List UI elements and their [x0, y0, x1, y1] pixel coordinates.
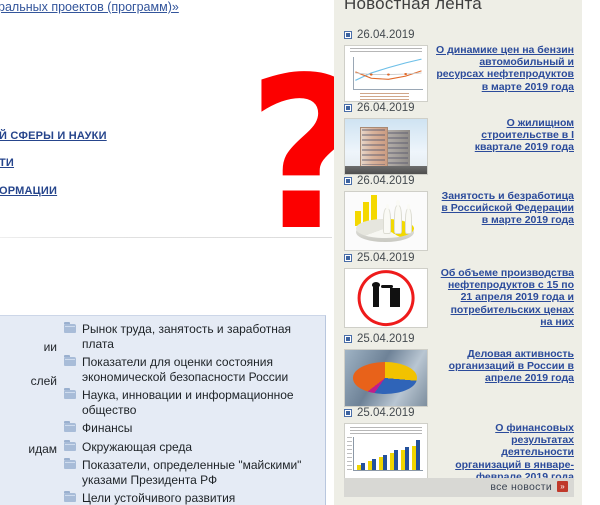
- rubric-item-finance[interactable]: Финансы: [64, 421, 322, 436]
- news-item: 26.04.2019: [342, 30, 574, 105]
- news-item: 25.04.2019 Деловая активность организаци…: [342, 334, 574, 411]
- news-item: 25.04.2019: [342, 408, 574, 483]
- clipped-label-3: идам: [28, 442, 57, 456]
- calendar-icon: [344, 31, 352, 39]
- news-thumbnail-fuel-sign[interactable]: [344, 268, 428, 328]
- news-thumbnail-financial-results[interactable]: [344, 423, 428, 481]
- all-news-link[interactable]: все новости: [490, 481, 552, 493]
- calendar-icon: [344, 409, 352, 417]
- folder-icon: [64, 357, 76, 366]
- news-date: 25.04.2019: [357, 252, 415, 264]
- breadcrumb-link[interactable]: ральных проектов (программ)»: [0, 0, 179, 14]
- news-thumbnail-line-chart[interactable]: [344, 45, 428, 102]
- page-right-gutter: [582, 0, 600, 505]
- news-date: 25.04.2019: [357, 407, 415, 419]
- news-feed-title: Новостная лента: [344, 0, 482, 14]
- news-date: 26.04.2019: [357, 175, 415, 187]
- news-item: 26.04.2019 Занятость: [342, 176, 574, 254]
- rubric-item-label: Показатели, определенные "майскими" указ…: [82, 458, 301, 487]
- news-item: 25.04.2019 Об объеме производства нефтеп…: [342, 253, 574, 332]
- folder-icon: [64, 493, 76, 502]
- news-link[interactable]: Занятость и безработица в Российской Фед…: [436, 190, 574, 227]
- news-thumbnail-building[interactable]: [344, 118, 428, 175]
- folder-icon: [64, 390, 76, 399]
- news-date: 26.04.2019: [357, 29, 415, 41]
- news-thumbnail-business-activity[interactable]: [344, 349, 428, 407]
- news-link[interactable]: О жилищном строительстве в I квартале 20…: [436, 117, 574, 154]
- section-link-authorities[interactable]: ТИ: [0, 157, 14, 169]
- folder-icon: [64, 324, 76, 333]
- section-link-social-sphere-science[interactable]: Й СФЕРЫ И НАУКИ: [0, 130, 107, 142]
- rubric-item-label: Цели устойчивого развития: [82, 491, 235, 505]
- main-content-column: ральных проектов (программ)» Й СФЕРЫ И Н…: [0, 0, 334, 505]
- rubricator-list: Рынок труда, занятость и заработная плат…: [64, 322, 322, 505]
- folder-icon: [64, 442, 76, 451]
- news-item: 26.04.2019 О жилищном строительстве в I …: [342, 103, 574, 178]
- rubric-item-label: Наука, инновации и информационное общест…: [82, 388, 294, 417]
- rubricator-panel: ии слей идам Рынок труда, занятость и за…: [0, 315, 326, 505]
- news-link[interactable]: Об объеме производства нефтепродуктов с …: [436, 267, 574, 328]
- calendar-icon: [344, 177, 352, 185]
- rubricator-left-clipped-column: ии слей идам: [0, 316, 60, 505]
- news-link[interactable]: О динамике цен на бензин автомобильный и…: [436, 44, 574, 93]
- rubric-item-label: Окружающая среда: [82, 440, 192, 454]
- calendar-icon: [344, 104, 352, 112]
- calendar-icon: [344, 335, 352, 343]
- clipped-label-1: ии: [44, 340, 57, 354]
- news-footer-bar: все новости »: [344, 478, 574, 497]
- folder-icon: [64, 460, 76, 469]
- section-link-information[interactable]: ОРМАЦИИ: [0, 185, 57, 197]
- all-news-badge-icon[interactable]: »: [557, 481, 568, 492]
- news-feed-panel: Новостная лента 26.04.2019: [334, 0, 582, 505]
- clipped-label-2: слей: [31, 374, 57, 388]
- news-thumbnail-employment[interactable]: [344, 191, 428, 251]
- news-link[interactable]: Деловая активность организаций в России …: [436, 348, 574, 385]
- rubric-item-label: Рынок труда, занятость и заработная плат…: [82, 322, 291, 351]
- news-date: 26.04.2019: [357, 102, 415, 114]
- rubric-item-label: Показатели для оценки состояния экономич…: [82, 355, 288, 384]
- news-link[interactable]: О финансовых результатах деятельности ор…: [436, 422, 574, 483]
- folder-icon: [64, 423, 76, 432]
- rubric-item-label: Финансы: [82, 421, 132, 435]
- rubric-item-sustainable-development[interactable]: Цели устойчивого развития: [64, 491, 322, 505]
- horizontal-divider: [0, 237, 332, 238]
- calendar-icon: [344, 254, 352, 262]
- rubric-item-may-decrees[interactable]: Показатели, определенные "майскими" указ…: [64, 458, 322, 487]
- rubric-item-economic-security[interactable]: Показатели для оценки состояния экономич…: [64, 355, 322, 384]
- news-date: 25.04.2019: [357, 333, 415, 345]
- rubric-item-labour-market[interactable]: Рынок труда, занятость и заработная плат…: [64, 322, 322, 351]
- rubric-item-science-innovation[interactable]: Наука, инновации и информационное общест…: [64, 388, 322, 417]
- rubric-item-environment[interactable]: Окружающая среда: [64, 440, 322, 455]
